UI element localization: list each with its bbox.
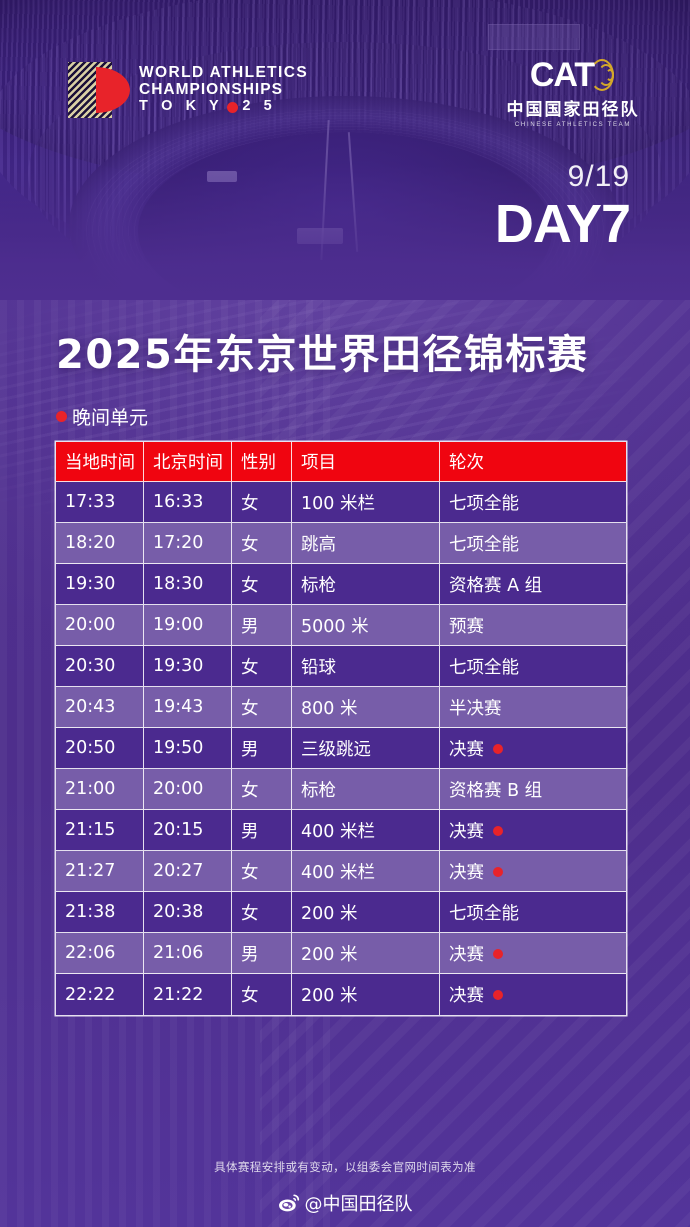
hero-purple-tint [0,0,690,300]
final-marker-icon [493,826,503,836]
poster-root: WORLD ATHLETICS CHAMPIONSHIPS T O K Y 2 … [0,0,690,1227]
cell-gender: 女 [232,892,292,933]
handle-text: @中国田径队 [305,1190,413,1216]
cell-local-time: 20:50 [56,728,144,769]
cell-beijing-time: 18:30 [144,564,232,605]
cell-beijing-time: 16:33 [144,482,232,523]
cell-local-time: 17:33 [56,482,144,523]
cell-event: 标枪 [292,769,440,810]
table-row: 19:3018:30女标枪资格赛 A 组 [56,564,626,605]
cell-round: 七项全能 [440,523,626,564]
table-header-row: 当地时间 北京时间 性别 项目 轮次 [56,442,626,482]
cell-round: 七项全能 [440,892,626,933]
column-header-beijing-time: 北京时间 [144,442,232,482]
disclaimer-text: 具体赛程安排或有变动，以组委会官网时间表为准 [0,1159,690,1175]
cell-beijing-time: 20:38 [144,892,232,933]
event-date: 9/19 [495,162,630,192]
page-title: 2025年东京世界田径锦标赛 [56,322,588,380]
cell-round: 决赛 [440,728,626,769]
cell-local-time: 21:27 [56,851,144,892]
cell-event: 跳高 [292,523,440,564]
cell-beijing-time: 19:30 [144,646,232,687]
table-row: 22:0621:06男200 米决赛 [56,933,626,974]
cell-round: 资格赛 B 组 [440,769,626,810]
cell-gender: 男 [232,810,292,851]
cell-gender: 女 [232,851,292,892]
table-row: 21:2720:27女400 米栏决赛 [56,851,626,892]
cell-event: 400 米栏 [292,851,440,892]
schedule-table-body: 17:3316:33女100 米栏七项全能18:2017:20女跳高七项全能19… [56,482,626,1015]
cell-round: 决赛 [440,810,626,851]
cell-beijing-time: 20:27 [144,851,232,892]
cell-gender: 女 [232,523,292,564]
final-marker-icon [493,744,503,754]
cell-gender: 女 [232,482,292,523]
table-row: 20:0019:00男5000 米预赛 [56,605,626,646]
cell-gender: 男 [232,933,292,974]
cell-beijing-time: 17:20 [144,523,232,564]
schedule-table-header: 当地时间 北京时间 性别 项目 轮次 [56,442,626,482]
wa-line-2: CHAMPIONSHIPS [139,82,308,99]
cell-event: 200 米 [292,933,440,974]
cat-arc-mark-icon [590,58,616,92]
cell-gender: 女 [232,769,292,810]
final-marker-icon [493,990,503,1000]
cat-mark: CAT [498,58,648,92]
wa-line-1: WORLD ATHLETICS [139,65,308,82]
world-athletics-fan-mark-icon [68,62,130,118]
table-row: 17:3316:33女100 米栏七项全能 [56,482,626,523]
table-row: 20:5019:50男三级跳远决赛 [56,728,626,769]
cell-beijing-time: 21:06 [144,933,232,974]
cell-gender: 女 [232,687,292,728]
session-label: 晚间单元 [56,403,148,430]
wa-tokyo-text: T O K Y [139,99,223,115]
cell-beijing-time: 19:00 [144,605,232,646]
cell-gender: 男 [232,605,292,646]
day-block: 9/19 DAY7 [495,162,630,253]
cell-local-time: 20:43 [56,687,144,728]
cell-local-time: 21:38 [56,892,144,933]
cell-local-time: 22:22 [56,974,144,1015]
table-row: 21:0020:00女标枪资格赛 B 组 [56,769,626,810]
cell-local-time: 20:30 [56,646,144,687]
cell-gender: 女 [232,974,292,1015]
wa-year-text: 2 5 [242,99,276,115]
table-row: 20:4319:43女800 米半决赛 [56,687,626,728]
cell-local-time: 20:00 [56,605,144,646]
cell-local-time: 21:00 [56,769,144,810]
table-row: 18:2017:20女跳高七项全能 [56,523,626,564]
cell-beijing-time: 19:43 [144,687,232,728]
wa-line-3: T O K Y 2 5 [139,99,308,115]
cell-round: 决赛 [440,933,626,974]
column-header-round: 轮次 [440,442,626,482]
cell-local-time: 18:20 [56,523,144,564]
session-text: 晚间单元 [72,403,148,430]
cell-beijing-time: 20:00 [144,769,232,810]
cell-event: 200 米 [292,892,440,933]
final-marker-icon [493,949,503,959]
schedule-table: 当地时间 北京时间 性别 项目 轮次 17:3316:33女100 米栏七项全能… [56,442,626,1015]
column-header-gender: 性别 [232,442,292,482]
table-row: 22:2221:22女200 米决赛 [56,974,626,1015]
cell-round: 预赛 [440,605,626,646]
cell-gender: 男 [232,728,292,769]
world-athletics-wordmark: WORLD ATHLETICS CHAMPIONSHIPS T O K Y 2 … [139,65,308,115]
cell-beijing-time: 19:50 [144,728,232,769]
cell-local-time: 21:15 [56,810,144,851]
cell-event: 100 米栏 [292,482,440,523]
cell-gender: 女 [232,564,292,605]
cell-beijing-time: 21:22 [144,974,232,1015]
cell-local-time: 19:30 [56,564,144,605]
cell-event: 200 米 [292,974,440,1015]
red-dot-icon [56,411,67,422]
cell-event: 5000 米 [292,605,440,646]
cat-letters: CAT [530,58,594,92]
chinese-athletics-team-logo: CAT 中国国家田径队 CHINESE ATHLETICS TEAM [498,58,648,128]
cell-round: 资格赛 A 组 [440,564,626,605]
cell-beijing-time: 20:15 [144,810,232,851]
red-dot-icon [227,102,238,113]
cell-event: 800 米 [292,687,440,728]
cell-event: 铅球 [292,646,440,687]
cell-round: 七项全能 [440,482,626,523]
final-marker-icon [493,867,503,877]
cell-event: 三级跳远 [292,728,440,769]
table-row: 21:1520:15男400 米栏决赛 [56,810,626,851]
hero-stadium-photo [0,0,690,300]
cell-event: 标枪 [292,564,440,605]
cell-event: 400 米栏 [292,810,440,851]
cell-round: 决赛 [440,974,626,1015]
column-header-event: 项目 [292,442,440,482]
cell-round: 决赛 [440,851,626,892]
column-header-local-time: 当地时间 [56,442,144,482]
table-row: 21:3820:38女200 米七项全能 [56,892,626,933]
cat-chinese-name: 中国国家田径队 [498,95,648,120]
cell-gender: 女 [232,646,292,687]
cell-local-time: 22:06 [56,933,144,974]
cat-english-name: CHINESE ATHLETICS TEAM [498,122,648,128]
weibo-icon [278,1194,300,1212]
table-row: 20:3019:30女铅球七项全能 [56,646,626,687]
cell-round: 七项全能 [440,646,626,687]
social-handle: @中国田径队 [0,1190,690,1216]
cell-round: 半决赛 [440,687,626,728]
day-number: DAY7 [495,196,630,253]
world-athletics-logo: WORLD ATHLETICS CHAMPIONSHIPS T O K Y 2 … [68,62,308,118]
red-semicircle-icon [96,67,130,113]
